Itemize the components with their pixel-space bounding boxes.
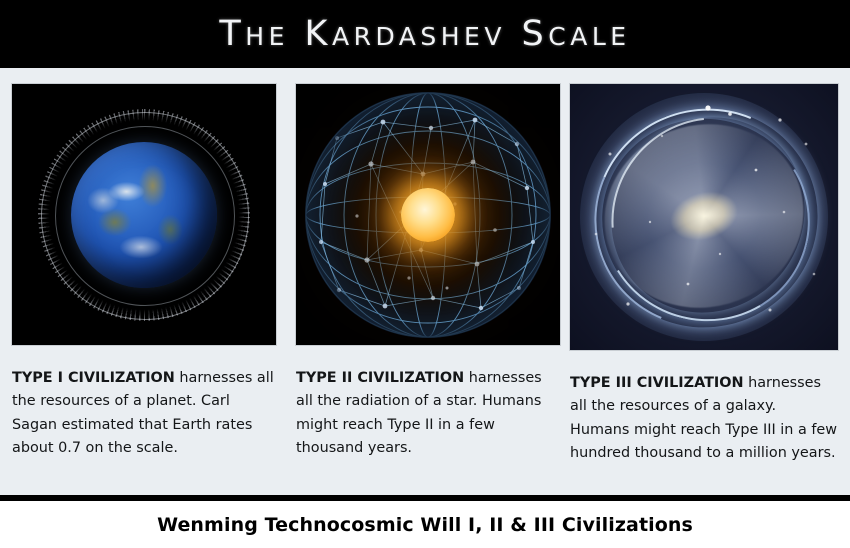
footer-band: Wenming Technocosmic Will I, II & III Ci…	[0, 501, 850, 548]
caption-lead: TYPE I CIVILIZATION	[12, 370, 175, 386]
caption-type-2: TYPE II CIVILIZATION harnesses all the r…	[296, 367, 560, 460]
panel-type-1: TYPE I CIVILIZATION harnesses all the re…	[12, 84, 276, 460]
earth-with-satellite-shell-icon	[12, 84, 276, 345]
body-area: TYPE I CIVILIZATION harnesses all the re…	[0, 68, 850, 495]
caption-type-1: TYPE I CIVILIZATION harnesses all the re…	[12, 367, 276, 460]
caption-lead: TYPE II CIVILIZATION	[296, 370, 464, 386]
star-glow	[401, 188, 455, 242]
dyson-sphere-around-star-icon	[296, 84, 560, 345]
panel-type-2: TYPE II CIVILIZATION harnesses all the r…	[296, 84, 560, 460]
caption-lead: TYPE III CIVILIZATION	[570, 375, 744, 391]
page-title: The Kardashev Scale	[0, 0, 850, 68]
spiral-galaxy-with-energy-rings-icon	[570, 84, 838, 350]
kardashev-scale-infographic: The Kardashev Scale TYPE I CIVILIZATION …	[0, 0, 850, 548]
footer-caption: Wenming Technocosmic Will I, II & III Ci…	[157, 514, 693, 536]
caption-type-3: TYPE III CIVILIZATION harnesses all the …	[570, 372, 838, 465]
panel-columns: TYPE I CIVILIZATION harnesses all the re…	[0, 68, 850, 495]
panel-type-3: TYPE III CIVILIZATION harnesses all the …	[570, 84, 838, 465]
